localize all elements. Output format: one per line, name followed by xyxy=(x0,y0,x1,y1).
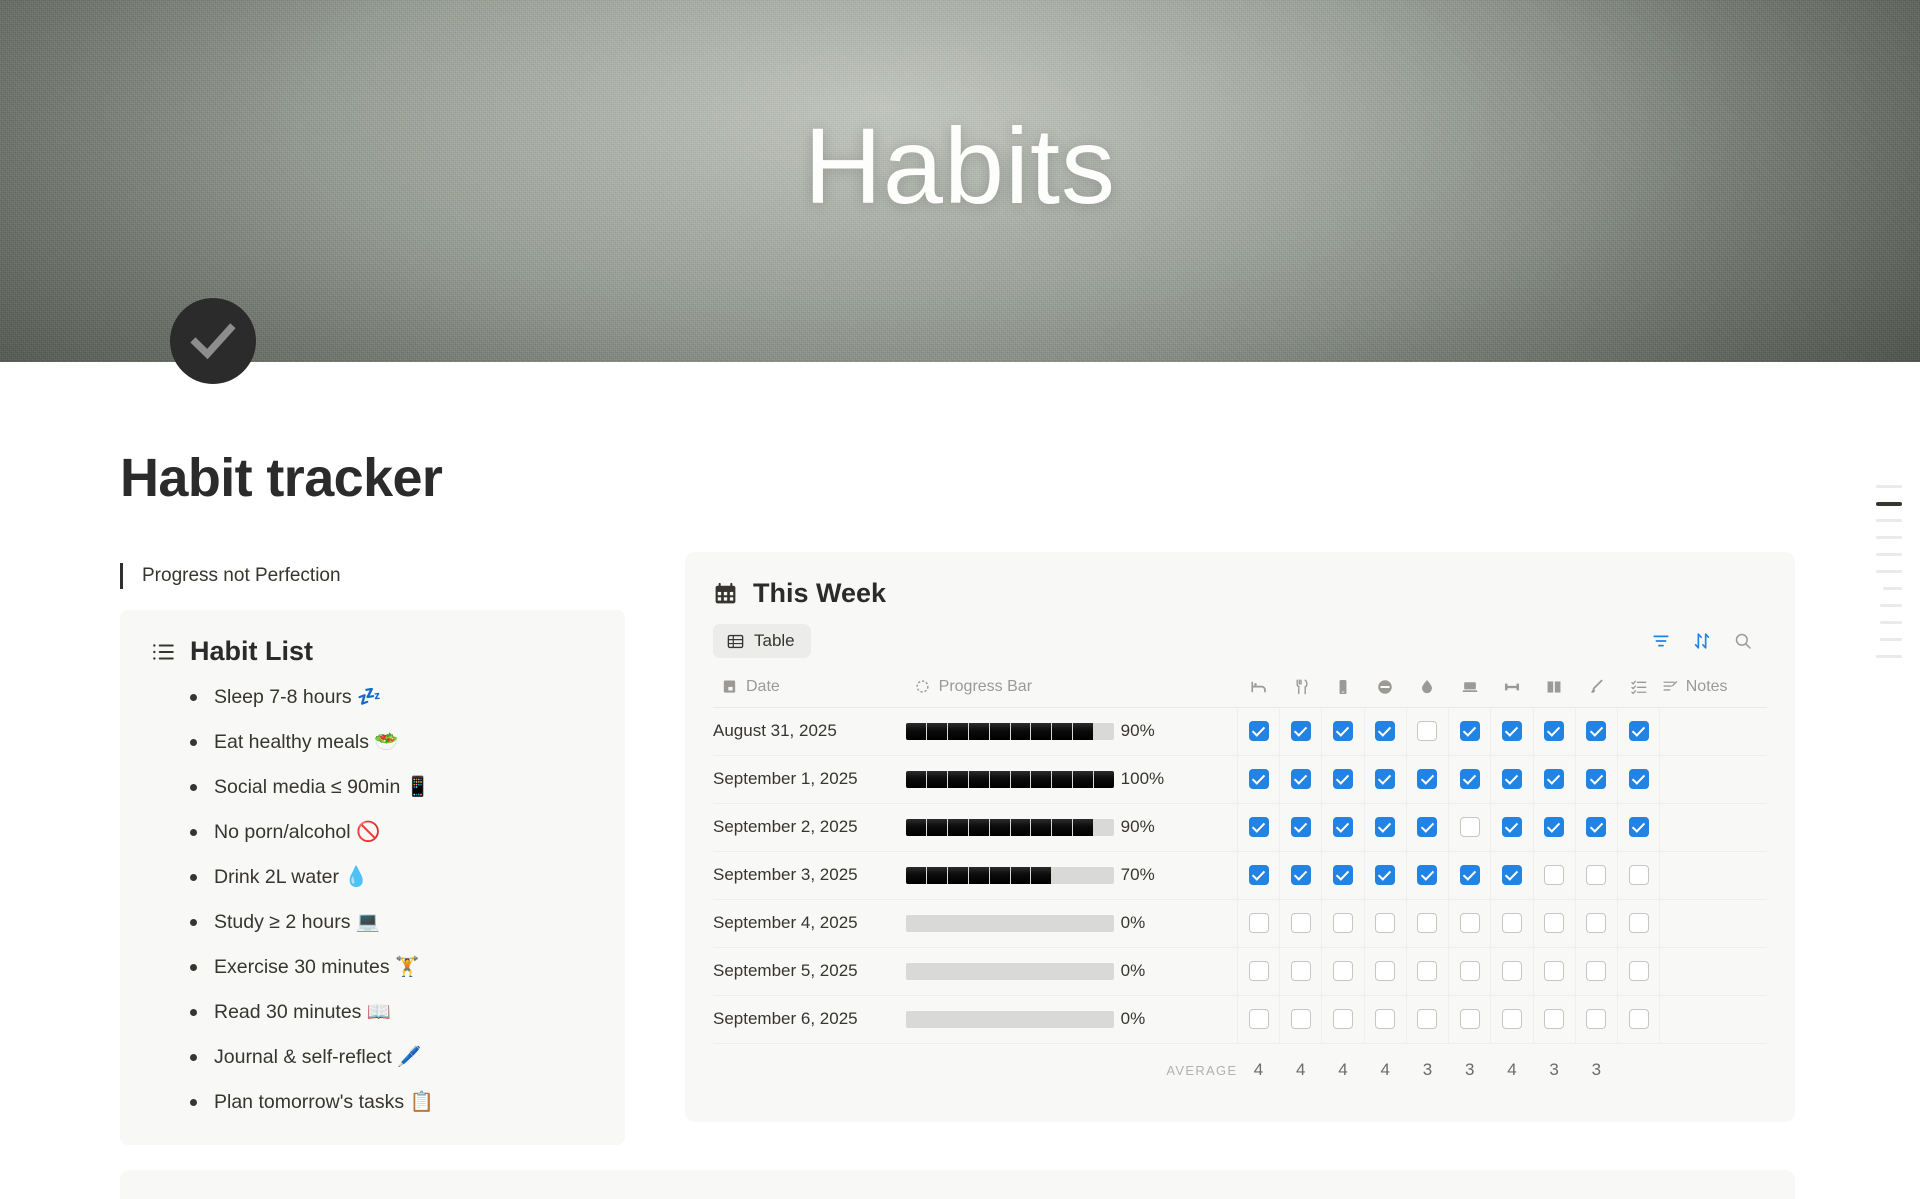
progress-bar-segment-divider xyxy=(989,819,990,836)
progress-bar-segment-divider xyxy=(1072,915,1073,932)
cell-checkbox[interactable] xyxy=(1449,755,1491,803)
habit-items: Sleep 7-8 hours 💤 Eat healthy meals 🥗 So… xyxy=(186,685,595,1115)
progress-bar-segment-divider xyxy=(947,771,948,788)
progress-bar-segment-divider xyxy=(947,915,948,932)
cell-checkbox[interactable] xyxy=(1237,995,1279,1043)
cell-checkbox[interactable] xyxy=(1449,899,1491,947)
checkbox-unchecked[interactable] xyxy=(1460,961,1480,981)
checkbox-checked[interactable] xyxy=(1460,865,1480,885)
cell-notes[interactable] xyxy=(1660,755,1767,803)
formula-circle-icon xyxy=(914,678,931,695)
checkbox-unchecked[interactable] xyxy=(1544,1009,1564,1029)
bed-icon xyxy=(1250,678,1268,696)
column-header-social-media[interactable] xyxy=(1322,667,1364,707)
checkbox-checked[interactable] xyxy=(1629,817,1649,837)
column-header-no-porn-alcohol[interactable] xyxy=(1364,667,1406,707)
checkbox-checked[interactable] xyxy=(1460,721,1480,741)
cell-checkbox[interactable] xyxy=(1491,995,1533,1043)
progress-bar-segment-divider xyxy=(1051,1011,1052,1028)
checkbox-checked[interactable] xyxy=(1375,817,1395,837)
checkbox-unchecked[interactable] xyxy=(1417,1009,1437,1029)
progress-bar-segment-divider xyxy=(1093,915,1094,932)
cell-checkbox[interactable] xyxy=(1406,707,1448,755)
cell-checkbox[interactable] xyxy=(1406,899,1448,947)
check-circle-icon[interactable] xyxy=(170,298,256,384)
progress-bar-fill xyxy=(906,723,1093,740)
progress-percent-label: 0% xyxy=(1121,913,1146,933)
checkbox-checked[interactable] xyxy=(1249,865,1269,885)
table-row[interactable]: August 31, 202590% xyxy=(713,707,1767,755)
cell-notes[interactable] xyxy=(1660,851,1767,899)
progress-bar-segment-divider xyxy=(1072,867,1073,884)
cell-checkbox[interactable] xyxy=(1280,947,1322,995)
page-title: Habit tracker xyxy=(120,447,1920,509)
checkbox-checked[interactable] xyxy=(1586,721,1606,741)
column-header-meals[interactable] xyxy=(1280,667,1322,707)
cell-date[interactable]: September 6, 2025 xyxy=(713,995,906,1043)
cell-date[interactable]: September 4, 2025 xyxy=(713,899,906,947)
checkbox-checked[interactable] xyxy=(1375,769,1395,789)
cell-checkbox[interactable] xyxy=(1533,755,1575,803)
outline-tick[interactable] xyxy=(1876,546,1902,563)
progress-bar-segment-divider xyxy=(968,1011,969,1028)
checkbox-checked[interactable] xyxy=(1544,769,1564,789)
progress-bar-fill xyxy=(906,819,1093,836)
cell-checkbox[interactable] xyxy=(1618,899,1660,947)
search-icon[interactable] xyxy=(1733,631,1753,651)
cell-checkbox[interactable] xyxy=(1533,851,1575,899)
laptop-icon xyxy=(1461,678,1479,696)
checkbox-unchecked[interactable] xyxy=(1544,961,1564,981)
cell-date[interactable]: September 5, 2025 xyxy=(713,947,906,995)
cell-progress-bar: 0% xyxy=(906,899,1238,947)
list-item: Social media ≤ 90min 📱 xyxy=(186,775,595,800)
checkbox-unchecked[interactable] xyxy=(1249,913,1269,933)
checkbox-unchecked[interactable] xyxy=(1460,817,1480,837)
habit-table: Date Progress Bar xyxy=(713,667,1767,1097)
cell-checkbox[interactable] xyxy=(1533,803,1575,851)
table-row[interactable]: September 6, 20250% xyxy=(713,995,1767,1043)
checkbox-checked[interactable] xyxy=(1629,769,1649,789)
book-icon xyxy=(1545,678,1563,696)
outline-tick[interactable] xyxy=(1876,512,1902,529)
progress-bar-segment-divider xyxy=(968,915,969,932)
checkbox-checked[interactable] xyxy=(1417,769,1437,789)
progress-bar-segment-divider xyxy=(1010,819,1011,836)
cell-checkbox[interactable] xyxy=(1533,995,1575,1043)
outline-indicator[interactable] xyxy=(1876,478,1902,665)
column-header-date-label: Date xyxy=(746,678,780,696)
progress-bar-segment-divider xyxy=(968,771,969,788)
progress-bar-segment-divider xyxy=(1093,963,1094,980)
checkbox-unchecked[interactable] xyxy=(1586,865,1606,885)
cell-checkbox[interactable] xyxy=(1280,899,1322,947)
checkbox-unchecked[interactable] xyxy=(1586,913,1606,933)
cell-checkbox[interactable] xyxy=(1533,947,1575,995)
cell-checkbox[interactable] xyxy=(1364,755,1406,803)
checkbox-checked[interactable] xyxy=(1249,817,1269,837)
list-item: No porn/alcohol 🚫 xyxy=(186,820,595,845)
checkbox-unchecked[interactable] xyxy=(1544,865,1564,885)
cell-checkbox[interactable] xyxy=(1406,803,1448,851)
column-header-water[interactable] xyxy=(1406,667,1448,707)
checkbox-checked[interactable] xyxy=(1291,721,1311,741)
progress-bar-segment-divider xyxy=(1093,867,1094,884)
progress-bar-segment-divider xyxy=(1093,819,1094,836)
brush-icon xyxy=(1587,678,1605,696)
progress-bar-segment-divider xyxy=(989,771,990,788)
checkbox-unchecked[interactable] xyxy=(1544,913,1564,933)
page-content: Habit tracker Progress not Perfection Ha… xyxy=(0,362,1920,590)
average-label: AVERAGE xyxy=(713,1043,1237,1097)
list-item: Sleep 7-8 hours 💤 xyxy=(186,685,595,710)
cell-date[interactable]: August 31, 2025 xyxy=(713,707,906,755)
this-week-card: This Week Table xyxy=(685,552,1795,1122)
checkbox-unchecked[interactable] xyxy=(1375,1009,1395,1029)
average-value[interactable]: 3 xyxy=(1533,1043,1575,1097)
checkbox-checked[interactable] xyxy=(1333,721,1353,741)
column-header-notes[interactable]: Notes xyxy=(1660,667,1767,707)
progress-bar-segment-divider xyxy=(1010,867,1011,884)
calendar-icon xyxy=(721,678,738,695)
progress-bar-segment-divider xyxy=(947,867,948,884)
cell-checkbox[interactable] xyxy=(1491,707,1533,755)
cell-checkbox[interactable] xyxy=(1618,851,1660,899)
checkbox-unchecked[interactable] xyxy=(1291,913,1311,933)
checkbox-unchecked[interactable] xyxy=(1333,913,1353,933)
checkbox-checked[interactable] xyxy=(1333,769,1353,789)
checkbox-checked[interactable] xyxy=(1249,769,1269,789)
cell-checkbox[interactable] xyxy=(1280,755,1322,803)
cell-notes[interactable] xyxy=(1660,899,1767,947)
column-header-study[interactable] xyxy=(1449,667,1491,707)
checkbox-unchecked[interactable] xyxy=(1460,913,1480,933)
cell-notes[interactable] xyxy=(1660,707,1767,755)
table-row[interactable]: September 4, 20250% xyxy=(713,899,1767,947)
cell-checkbox[interactable] xyxy=(1491,803,1533,851)
progress-bar-segment-divider xyxy=(1072,771,1073,788)
cell-notes[interactable] xyxy=(1660,995,1767,1043)
checkbox-checked[interactable] xyxy=(1249,721,1269,741)
checkbox-checked[interactable] xyxy=(1417,865,1437,885)
cell-checkbox[interactable] xyxy=(1449,707,1491,755)
cell-checkbox[interactable] xyxy=(1237,947,1279,995)
cell-checkbox[interactable] xyxy=(1575,947,1617,995)
progress-bar-segment-divider xyxy=(1093,1011,1094,1028)
checkbox-unchecked[interactable] xyxy=(1249,1009,1269,1029)
checkbox-checked[interactable] xyxy=(1502,865,1522,885)
cell-checkbox[interactable] xyxy=(1237,755,1279,803)
cell-checkbox[interactable] xyxy=(1322,707,1364,755)
checkbox-checked[interactable] xyxy=(1417,817,1437,837)
cell-checkbox[interactable] xyxy=(1618,995,1660,1043)
checkbox-unchecked[interactable] xyxy=(1502,913,1522,933)
habit-list-card: Habit List Sleep 7-8 hours 💤 Eat healthy… xyxy=(120,610,625,1145)
progress-bar-track xyxy=(906,915,1114,932)
progress-bar-track xyxy=(906,1011,1114,1028)
cell-checkbox[interactable] xyxy=(1618,947,1660,995)
cell-progress-bar: 90% xyxy=(906,707,1238,755)
checkbox-checked[interactable] xyxy=(1544,721,1564,741)
calendar-icon xyxy=(713,581,738,606)
progress-bar-segment-divider xyxy=(1051,723,1052,740)
table-row[interactable]: September 2, 202590% xyxy=(713,803,1767,851)
cell-checkbox[interactable] xyxy=(1237,899,1279,947)
outline-tick[interactable] xyxy=(1883,580,1902,597)
checkbox-checked[interactable] xyxy=(1333,817,1353,837)
checkbox-unchecked[interactable] xyxy=(1417,721,1437,741)
cell-checkbox[interactable] xyxy=(1449,803,1491,851)
cell-checkbox[interactable] xyxy=(1406,851,1448,899)
checkbox-checked[interactable] xyxy=(1502,817,1522,837)
list-item: Drink 2L water 💧 xyxy=(186,865,595,890)
column-header-sleep[interactable] xyxy=(1237,667,1279,707)
cell-checkbox[interactable] xyxy=(1406,947,1448,995)
list-item: Study ≥ 2 hours 💻 xyxy=(186,910,595,935)
cell-date[interactable]: September 1, 2025 xyxy=(713,755,906,803)
progress-bar-segment-divider xyxy=(947,1011,948,1028)
average-value[interactable]: 3 xyxy=(1449,1043,1491,1097)
progress-bar-segment-divider xyxy=(1030,1011,1031,1028)
table-row[interactable]: September 5, 20250% xyxy=(713,947,1767,995)
cell-checkbox[interactable] xyxy=(1280,803,1322,851)
checkbox-unchecked[interactable] xyxy=(1375,961,1395,981)
checkbox-unchecked[interactable] xyxy=(1417,961,1437,981)
cell-checkbox[interactable] xyxy=(1280,851,1322,899)
checkbox-checked[interactable] xyxy=(1375,865,1395,885)
outline-tick[interactable] xyxy=(1880,614,1902,631)
quote-bar xyxy=(120,563,123,589)
cell-checkbox[interactable] xyxy=(1618,707,1660,755)
cell-checkbox[interactable] xyxy=(1575,803,1617,851)
checkbox-checked[interactable] xyxy=(1291,769,1311,789)
cell-checkbox[interactable] xyxy=(1575,995,1617,1043)
habit-list-header: Habit List xyxy=(150,636,595,667)
average-value[interactable]: 4 xyxy=(1491,1043,1533,1097)
list-item: Exercise 30 minutes 🏋️ xyxy=(186,955,595,980)
cell-checkbox[interactable] xyxy=(1618,755,1660,803)
cell-checkbox[interactable] xyxy=(1237,851,1279,899)
cell-checkbox[interactable] xyxy=(1364,947,1406,995)
checkbox-unchecked[interactable] xyxy=(1629,961,1649,981)
checkbox-unchecked[interactable] xyxy=(1629,913,1649,933)
outline-tick[interactable] xyxy=(1876,648,1902,665)
progress-bar-segment-divider xyxy=(1072,723,1073,740)
tab-table[interactable]: Table xyxy=(713,624,811,658)
checkbox-checked[interactable] xyxy=(1586,817,1606,837)
cell-checkbox[interactable] xyxy=(1322,947,1364,995)
progress-bar-track xyxy=(906,867,1114,884)
cell-checkbox[interactable] xyxy=(1491,899,1533,947)
checkbox-unchecked[interactable] xyxy=(1291,1009,1311,1029)
checkbox-checked[interactable] xyxy=(1586,769,1606,789)
progress-bar-segment-divider xyxy=(1093,771,1094,788)
cell-checkbox[interactable] xyxy=(1364,707,1406,755)
cell-date[interactable]: September 2, 2025 xyxy=(713,803,906,851)
progress-bar-segment-divider xyxy=(1072,963,1073,980)
cell-checkbox[interactable] xyxy=(1364,851,1406,899)
cell-checkbox[interactable] xyxy=(1449,995,1491,1043)
outline-tick[interactable] xyxy=(1880,597,1902,614)
table-row[interactable]: September 1, 2025100% xyxy=(713,755,1767,803)
cell-checkbox[interactable] xyxy=(1322,995,1364,1043)
checkbox-unchecked[interactable] xyxy=(1629,1009,1649,1029)
cell-checkbox[interactable] xyxy=(1406,755,1448,803)
cell-checkbox[interactable] xyxy=(1322,755,1364,803)
checkbox-checked[interactable] xyxy=(1333,865,1353,885)
sort-icon[interactable] xyxy=(1692,631,1712,651)
checkbox-unchecked[interactable] xyxy=(1375,913,1395,933)
table-icon xyxy=(726,632,745,651)
cell-progress-bar: 0% xyxy=(906,995,1238,1043)
progress-bar-segment-divider xyxy=(926,819,927,836)
progress-percent-label: 90% xyxy=(1121,721,1155,741)
outline-tick[interactable] xyxy=(1876,478,1902,495)
progress-bar-segment-divider xyxy=(1010,963,1011,980)
this-month-card: This Month xyxy=(120,1170,1795,1199)
cell-notes[interactable] xyxy=(1660,947,1767,995)
progress-bar-segment-divider xyxy=(989,915,990,932)
cell-checkbox[interactable] xyxy=(1406,995,1448,1043)
progress-bar-segment-divider xyxy=(1051,867,1052,884)
list-item: Journal & self-reflect 🖊️ xyxy=(186,1045,595,1070)
dumbbell-icon xyxy=(1503,678,1521,696)
checkbox-checked[interactable] xyxy=(1291,865,1311,885)
average-value[interactable]: 3 xyxy=(1575,1043,1617,1097)
checkbox-checked[interactable] xyxy=(1291,817,1311,837)
progress-percent-label: 70% xyxy=(1121,865,1155,885)
cell-checkbox[interactable] xyxy=(1449,851,1491,899)
progress-bar-track xyxy=(906,723,1114,740)
progress-bar-segment-divider xyxy=(1093,723,1094,740)
cell-checkbox[interactable] xyxy=(1280,995,1322,1043)
cell-checkbox[interactable] xyxy=(1575,755,1617,803)
progress-percent-label: 90% xyxy=(1121,817,1155,837)
checkbox-unchecked[interactable] xyxy=(1629,865,1649,885)
cell-checkbox[interactable] xyxy=(1364,803,1406,851)
column-header-read[interactable] xyxy=(1533,667,1575,707)
average-value[interactable]: 4 xyxy=(1322,1043,1364,1097)
checkbox-checked[interactable] xyxy=(1502,721,1522,741)
outline-tick[interactable] xyxy=(1880,631,1902,648)
progress-percent-label: 0% xyxy=(1121,1009,1146,1029)
cell-checkbox[interactable] xyxy=(1491,851,1533,899)
checkbox-unchecked[interactable] xyxy=(1586,1009,1606,1029)
checkbox-unchecked[interactable] xyxy=(1460,1009,1480,1029)
cell-checkbox[interactable] xyxy=(1575,851,1617,899)
checkbox-unchecked[interactable] xyxy=(1502,961,1522,981)
cell-checkbox[interactable] xyxy=(1364,899,1406,947)
table-row[interactable]: September 3, 202570% xyxy=(713,851,1767,899)
database-view-bar: Table xyxy=(713,621,1767,661)
progress-bar-segment-divider xyxy=(926,963,927,980)
checkbox-unchecked[interactable] xyxy=(1333,961,1353,981)
habit-list-title: Habit List xyxy=(190,636,313,667)
cell-checkbox[interactable] xyxy=(1280,707,1322,755)
progress-bar-track xyxy=(906,963,1114,980)
progress-bar-segment-divider xyxy=(1010,1011,1011,1028)
checkbox-checked[interactable] xyxy=(1460,769,1480,789)
progress-bar-segment-divider xyxy=(926,915,927,932)
fork-knife-icon xyxy=(1292,678,1310,696)
checkbox-checked[interactable] xyxy=(1375,721,1395,741)
progress-bar-segment-divider xyxy=(1010,723,1011,740)
cell-checkbox[interactable] xyxy=(1237,707,1279,755)
table-footer: AVERAGE444433433 xyxy=(713,1043,1767,1097)
checkbox-checked[interactable] xyxy=(1502,769,1522,789)
cell-notes[interactable] xyxy=(1660,803,1767,851)
average-value[interactable]: 4 xyxy=(1364,1043,1406,1097)
cell-date[interactable]: September 3, 2025 xyxy=(713,851,906,899)
column-header-exercise[interactable] xyxy=(1491,667,1533,707)
filter-icon[interactable] xyxy=(1651,631,1671,651)
cell-checkbox[interactable] xyxy=(1491,947,1533,995)
cell-checkbox[interactable] xyxy=(1237,803,1279,851)
column-header-date[interactable]: Date xyxy=(713,667,906,707)
cell-checkbox[interactable] xyxy=(1322,803,1364,851)
average-empty xyxy=(1618,1043,1660,1097)
outline-tick[interactable] xyxy=(1876,495,1902,512)
checkbox-unchecked[interactable] xyxy=(1417,913,1437,933)
cell-checkbox[interactable] xyxy=(1533,707,1575,755)
progress-bar-segment-divider xyxy=(968,819,969,836)
phone-icon xyxy=(1334,678,1352,696)
cell-progress-bar: 70% xyxy=(906,851,1238,899)
cell-checkbox[interactable] xyxy=(1322,851,1364,899)
checkbox-unchecked[interactable] xyxy=(1291,961,1311,981)
progress-bar-track xyxy=(906,771,1114,788)
progress-bar-segment-divider xyxy=(1030,819,1031,836)
cell-checkbox[interactable] xyxy=(1533,899,1575,947)
progress-bar-segment-divider xyxy=(968,867,969,884)
bulleted-list-icon xyxy=(150,639,176,665)
checkbox-unchecked[interactable] xyxy=(1502,1009,1522,1029)
checkbox-checked[interactable] xyxy=(1629,721,1649,741)
cell-checkbox[interactable] xyxy=(1575,707,1617,755)
cell-checkbox[interactable] xyxy=(1491,755,1533,803)
progress-bar-segment-divider xyxy=(1030,915,1031,932)
progress-bar-segment-divider xyxy=(926,867,927,884)
progress-bar-segment-divider xyxy=(1051,819,1052,836)
checkbox-unchecked[interactable] xyxy=(1249,961,1269,981)
progress-bar-fill xyxy=(906,867,1052,884)
checkbox-unchecked[interactable] xyxy=(1586,961,1606,981)
average-value[interactable]: 4 xyxy=(1280,1043,1322,1097)
progress-bar-segment-divider xyxy=(1072,819,1073,836)
page-root: Habits Habit tracker Progress not Perfec… xyxy=(0,0,1920,1199)
average-value[interactable]: 4 xyxy=(1237,1043,1279,1097)
cell-checkbox[interactable] xyxy=(1322,899,1364,947)
progress-bar-segment-divider xyxy=(968,963,969,980)
column-header-plan-tasks[interactable] xyxy=(1618,667,1660,707)
column-header-journal[interactable] xyxy=(1575,667,1617,707)
outline-tick[interactable] xyxy=(1876,529,1902,546)
cell-checkbox[interactable] xyxy=(1364,995,1406,1043)
droplet-icon xyxy=(1418,678,1436,696)
cell-checkbox[interactable] xyxy=(1449,947,1491,995)
progress-bar-segment-divider xyxy=(1010,771,1011,788)
checkbox-checked[interactable] xyxy=(1544,817,1564,837)
progress-bar-segment-divider xyxy=(1030,963,1031,980)
average-value[interactable]: 3 xyxy=(1406,1043,1448,1097)
average-empty xyxy=(1660,1043,1767,1097)
outline-tick[interactable] xyxy=(1876,563,1902,580)
cell-checkbox[interactable] xyxy=(1575,899,1617,947)
cell-checkbox[interactable] xyxy=(1618,803,1660,851)
column-header-progress-bar[interactable]: Progress Bar xyxy=(906,667,1238,707)
checkbox-unchecked[interactable] xyxy=(1333,1009,1353,1029)
tab-table-label: Table xyxy=(754,631,795,651)
